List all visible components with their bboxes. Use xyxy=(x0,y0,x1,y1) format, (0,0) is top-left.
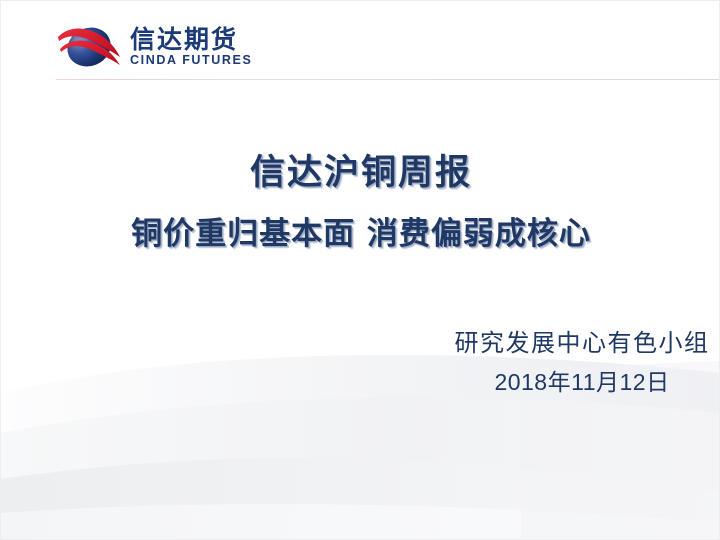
byline-block: 研究发展中心有色小组 2018年11月12日 xyxy=(442,328,720,397)
logo-english-name: CINDA FUTURES xyxy=(130,54,252,68)
header-divider-line xyxy=(56,79,720,80)
page-title: 信达沪铜周报 xyxy=(1,153,720,194)
cinda-swoosh-emblem-icon xyxy=(56,23,122,71)
company-logo: 信达期货 CINDA FUTURES xyxy=(56,23,252,71)
publication-date: 2018年11月12日 xyxy=(442,368,720,397)
logo-wordmark: 信达期货 CINDA FUTURES xyxy=(130,27,252,68)
logo-chinese-name: 信达期货 xyxy=(130,27,252,53)
page-subtitle: 铜价重归基本面 消费偏弱成核心 xyxy=(1,216,720,253)
background-wave-decoration xyxy=(1,1,720,540)
presentation-slide: 信达期货 CINDA FUTURES 信达沪铜周报 铜价重归基本面 消费偏弱成核… xyxy=(0,0,720,540)
title-block: 信达沪铜周报 铜价重归基本面 消费偏弱成核心 xyxy=(1,153,720,253)
author-team-name: 研究发展中心有色小组 xyxy=(442,328,720,358)
slide-header: 信达期货 CINDA FUTURES xyxy=(1,1,720,81)
